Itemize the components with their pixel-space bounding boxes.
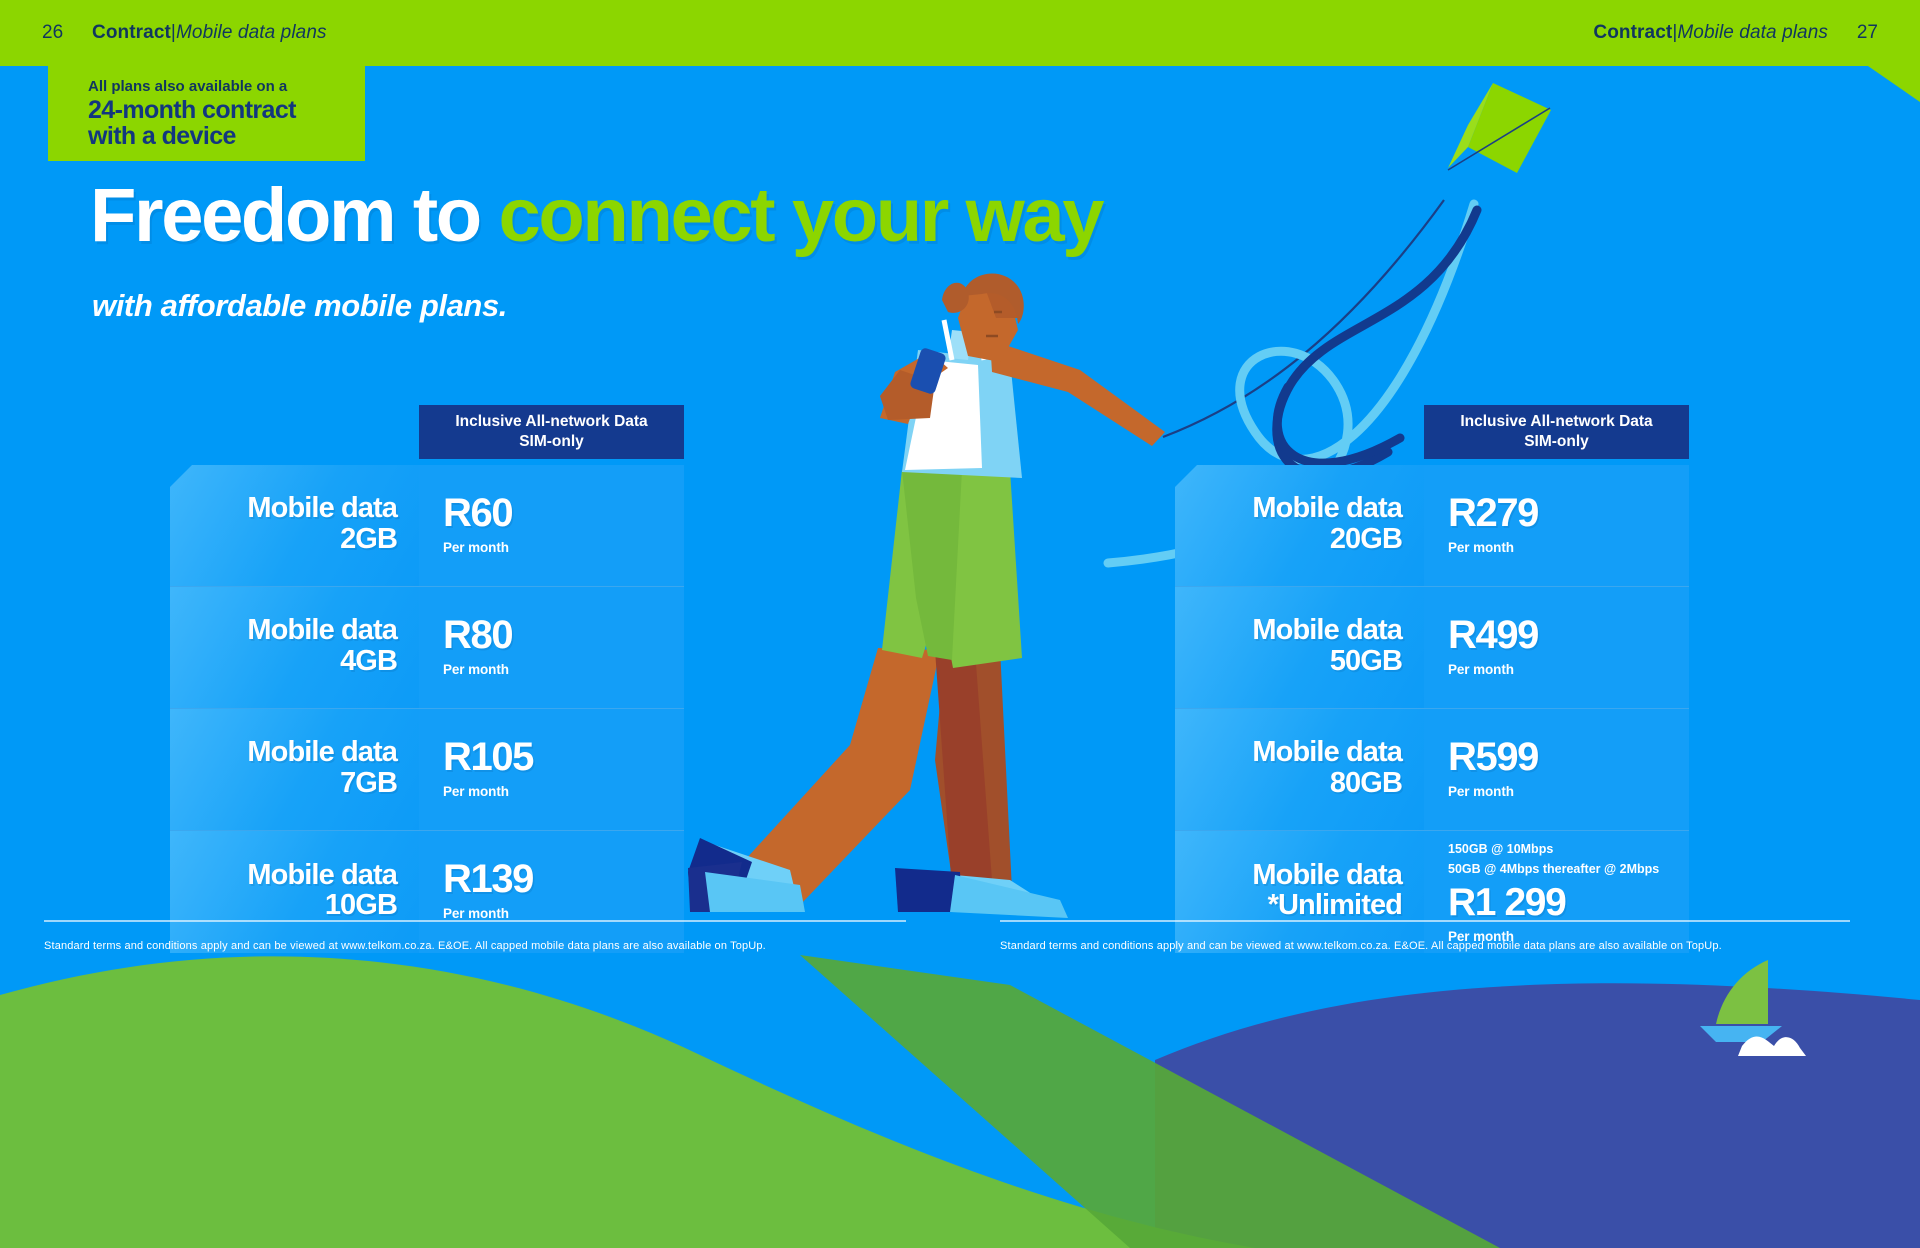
plan-speed-note-line2: 50GB @ 4Mbps thereafter @ 2Mbps [1448, 861, 1689, 877]
plan-size: 4GB [340, 646, 397, 676]
plan-price: R105 [443, 737, 684, 777]
promo-tab-line1: All plans also available on a [88, 78, 365, 97]
page-number-right: 27 [1857, 22, 1878, 44]
table-right-column-header: Inclusive All-network Data SIM-only [1424, 405, 1689, 459]
promo-tab-line3: with a device [88, 124, 365, 150]
plan-size: 10GB [325, 890, 397, 920]
footnote-text: Standard terms and conditions apply and … [1000, 940, 1850, 952]
plan-size: *Unlimited [1268, 890, 1402, 920]
plan-period: Per month [1448, 784, 1689, 799]
breadcrumb-section-left: Contract [92, 22, 171, 43]
promo-tab-24-month-contract: All plans also available on a 24-month c… [48, 66, 365, 161]
plan-name: Mobile data [1252, 860, 1402, 890]
table-right-header-line2: SIM-only [1524, 433, 1589, 450]
plan-size: 20GB [1330, 524, 1402, 554]
plan-price-cell: R105 Per month [419, 709, 684, 831]
plan-name-cell: Mobile data 20GB [1175, 465, 1424, 587]
table-left-header-line2: SIM-only [519, 433, 584, 450]
table-right-header-line1: Inclusive All-network Data [1460, 413, 1652, 430]
plan-price-cell: R599 Per month [1424, 709, 1689, 831]
plan-price: R499 [1448, 615, 1689, 655]
breadcrumb-left: Contract|Mobile data plans [92, 22, 327, 44]
plan-size: 7GB [340, 768, 397, 798]
plan-name-cell: Mobile data 80GB [1175, 709, 1424, 831]
footnote-divider [44, 920, 906, 922]
plan-name-cell: Mobile data 50GB [1175, 587, 1424, 709]
table-row[interactable]: Mobile data 7GB R105 Per month [170, 709, 684, 831]
table-row[interactable]: Mobile data 20GB R279 Per month [1175, 465, 1689, 587]
top-band-corner-notch [1868, 66, 1920, 102]
plan-name: Mobile data [247, 615, 397, 645]
plan-size: 2GB [340, 524, 397, 554]
plan-period: Per month [443, 784, 684, 799]
page-subtitle: with affordable mobile plans. [92, 288, 507, 324]
plan-price: R60 [443, 493, 684, 533]
breadcrumb-section-right: Contract [1593, 22, 1672, 43]
plan-size: 50GB [1330, 646, 1402, 676]
plan-price: R279 [1448, 493, 1689, 533]
footnote-left: Standard terms and conditions apply and … [44, 920, 906, 952]
brochure-page: 26 Contract|Mobile data plans Contract|M… [0, 0, 1920, 1248]
plan-name: Mobile data [1252, 737, 1402, 767]
table-row[interactable]: Mobile data 80GB R599 Per month [1175, 709, 1689, 831]
footnote-right: Standard terms and conditions apply and … [1000, 920, 1850, 952]
promo-tab-line2: 24-month contract [88, 98, 365, 124]
breadcrumb-subsection-left: Mobile data plans [176, 22, 327, 43]
plan-name: Mobile data [247, 493, 397, 523]
plan-size: 80GB [1330, 768, 1402, 798]
table-right-body: Mobile data 20GB R279 Per month Mobile d… [1175, 465, 1689, 953]
page-title: Freedom to connect your way [90, 178, 1102, 254]
breadcrumb-right: Contract|Mobile data plans [1593, 22, 1828, 44]
page-number-left: 26 [42, 22, 63, 44]
plan-period: Per month [443, 906, 684, 921]
plan-name-cell: Mobile data 2GB [170, 465, 419, 587]
table-left-column-header: Inclusive All-network Data SIM-only [419, 405, 684, 459]
table-row[interactable]: Mobile data 2GB R60 Per month [170, 465, 684, 587]
plan-price-cell: R499 Per month [1424, 587, 1689, 709]
plan-name-cell: Mobile data 7GB [170, 709, 419, 831]
table-left-body: Mobile data 2GB R60 Per month Mobile dat… [170, 465, 684, 953]
footnote-divider [1000, 920, 1850, 922]
plan-name: Mobile data [247, 860, 397, 890]
table-left-header-line1: Inclusive All-network Data [455, 413, 647, 430]
plan-price: R139 [443, 859, 684, 899]
plan-period: Per month [1448, 662, 1689, 677]
footnote-text: Standard terms and conditions apply and … [44, 940, 906, 952]
plan-name: Mobile data [247, 737, 397, 767]
breadcrumb-subsection-right: Mobile data plans [1677, 22, 1828, 43]
plan-price: R80 [443, 615, 684, 655]
headline-green-part: connect your way [499, 173, 1103, 258]
plan-period: Per month [1448, 540, 1689, 555]
plan-price-cell: R279 Per month [1424, 465, 1689, 587]
plan-price: R599 [1448, 737, 1689, 777]
headline-white-part: Freedom to [90, 173, 480, 258]
plan-price: R1 299 [1448, 883, 1689, 922]
plan-price-cell: R80 Per month [419, 587, 684, 709]
table-row[interactable]: Mobile data 4GB R80 Per month [170, 587, 684, 709]
plan-price-cell: R60 Per month [419, 465, 684, 587]
plan-speed-note-line1: 150GB @ 10Mbps [1448, 841, 1689, 857]
table-row[interactable]: Mobile data 50GB R499 Per month [1175, 587, 1689, 709]
plan-name: Mobile data [1252, 493, 1402, 523]
plan-name: Mobile data [1252, 615, 1402, 645]
plan-period: Per month [443, 540, 684, 555]
plan-period: Per month [443, 662, 684, 677]
plan-name-cell: Mobile data 4GB [170, 587, 419, 709]
